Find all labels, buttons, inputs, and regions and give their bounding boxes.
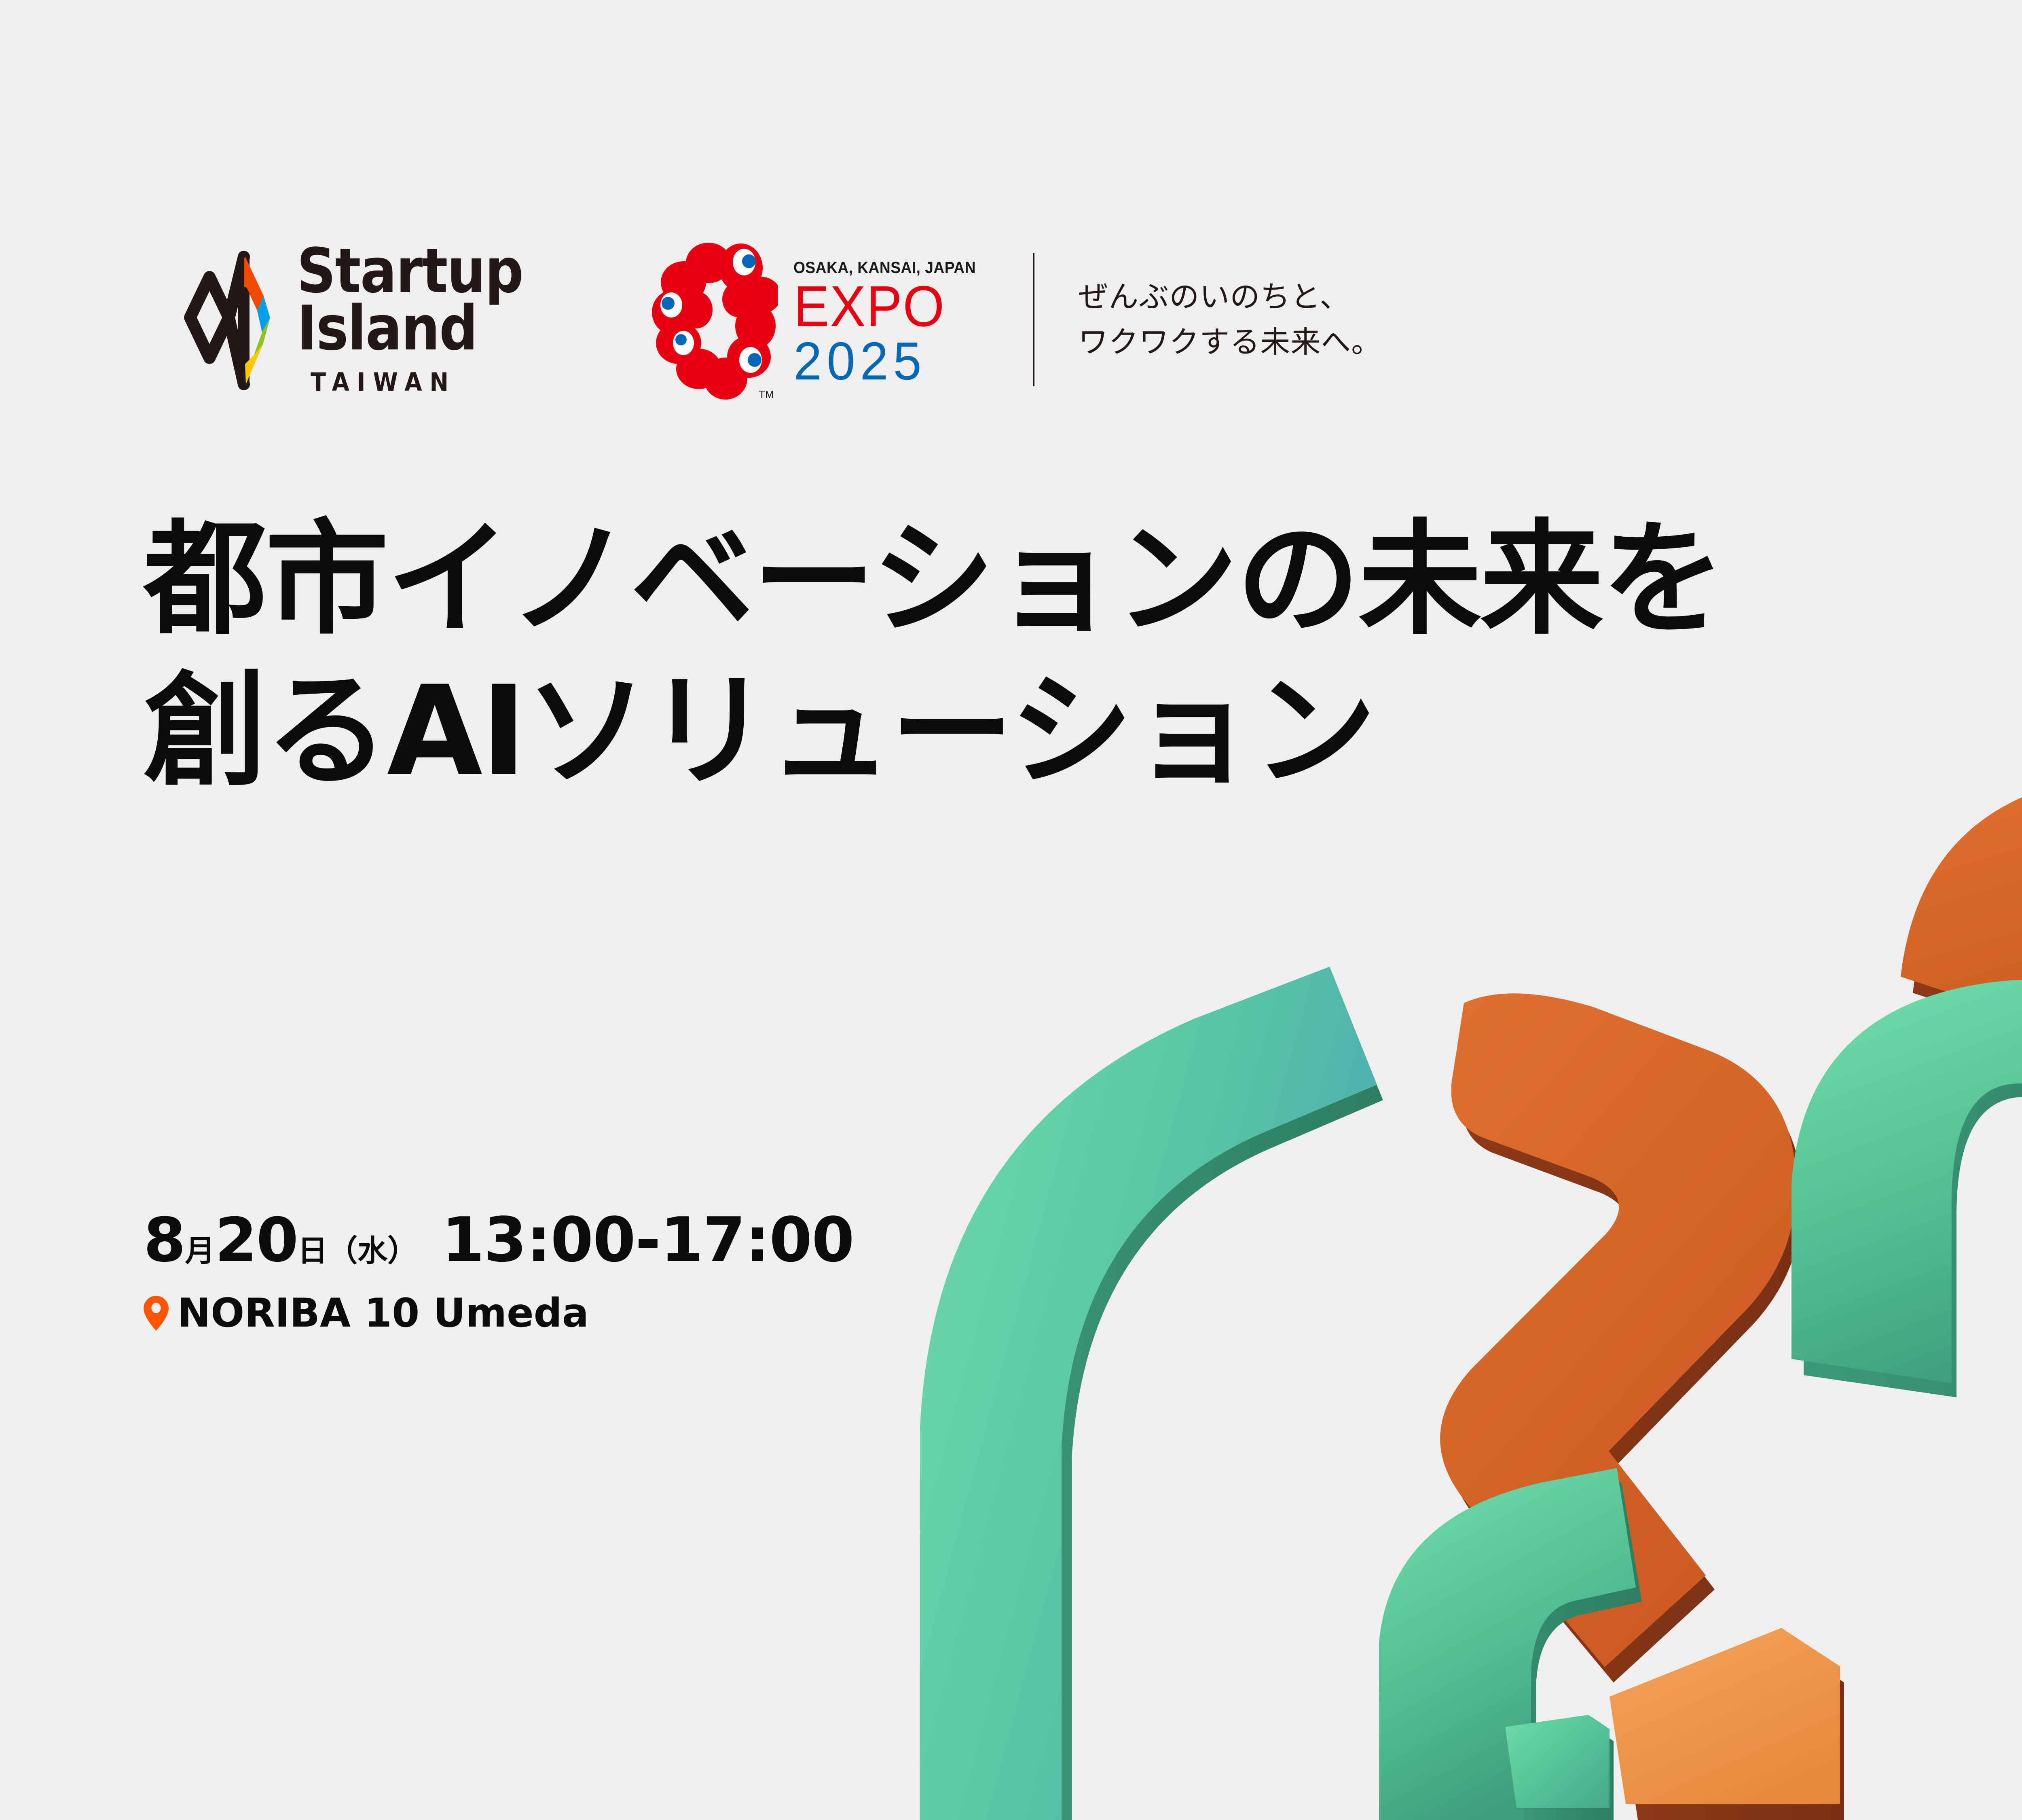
- logo-row: Startup Island TAIWAN: [178, 239, 1381, 400]
- expo-tagline-line1: ぜんぶのいのちと、: [1078, 274, 1381, 320]
- startup-island-taiwan-logo: Startup Island TAIWAN: [178, 239, 554, 400]
- expo-2025-logo: TM OSAKA, KANSAI, JAPAN EXPO 2025: [649, 239, 990, 400]
- page-title: 都市イノベーションの未来を 創るAIソリューション: [144, 504, 1724, 807]
- expo-title: EXPO: [793, 281, 990, 332]
- event-day-unit: 日: [298, 1236, 328, 1266]
- event-details: 8 月 20 日 （水） 13:00-17:00 NORIBA 10 Umeda: [144, 1209, 854, 1333]
- event-day: 20: [215, 1210, 298, 1271]
- vertical-divider: [1033, 253, 1034, 386]
- event-month-unit: 月: [185, 1236, 215, 1266]
- startup-island-line1: Startup: [297, 242, 523, 299]
- location-pin-icon: [144, 1296, 169, 1331]
- expo-year: 2025: [793, 335, 990, 387]
- headline-line-2: 創るAIソリューション: [144, 655, 1724, 807]
- startup-island-line2: Island: [297, 300, 523, 357]
- expo-tagline: ぜんぶのいのちと、 ワクワクする未来へ。: [1078, 274, 1381, 365]
- startup-island-line3: TAIWAN: [311, 367, 529, 397]
- event-venue-name: NORIBA 10 Umeda: [178, 1293, 589, 1333]
- expo-tagline-line2: ワクワクする未来へ。: [1078, 320, 1381, 365]
- event-month: 8: [144, 1210, 185, 1271]
- event-time-range: 13:00-17:00: [442, 1209, 854, 1271]
- event-weekday: （水）: [328, 1236, 417, 1266]
- startup-island-chevron-mark: [178, 239, 279, 400]
- event-date-row: 8 月 20 日 （水） 13:00-17:00: [144, 1209, 854, 1271]
- event-venue-row: NORIBA 10 Umeda: [144, 1293, 854, 1333]
- trademark-label: TM: [759, 388, 774, 400]
- headline-line-1: 都市イノベーションの未来を: [144, 504, 1724, 655]
- myaku-myaku-ring-mark: TM: [649, 239, 778, 400]
